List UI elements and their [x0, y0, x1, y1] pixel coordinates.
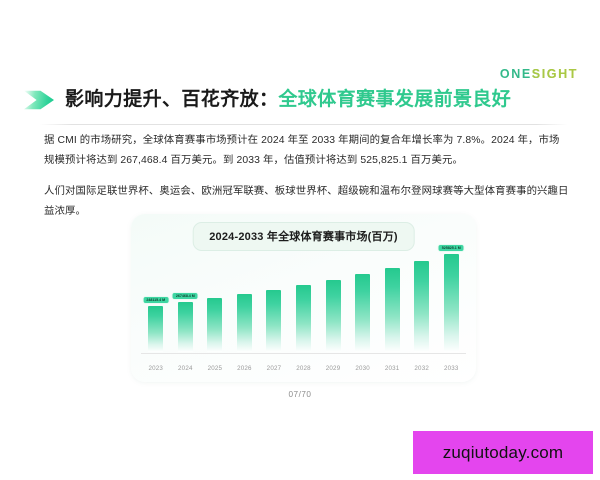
slide-canvas: ONESIGHT 影响力提升、百花齐放：全球体育赛事发展前景良好 据 CMI 的…	[0, 0, 600, 480]
page-number: 07/70	[0, 390, 600, 399]
x-axis-tick: 2031	[377, 365, 407, 372]
bar	[296, 285, 311, 352]
bar	[326, 280, 341, 352]
bar	[178, 302, 193, 352]
x-axis-tick: 2025	[200, 365, 230, 372]
bar-column: 267468.4 M	[171, 248, 201, 352]
title-divider	[40, 124, 568, 125]
bar-column	[230, 248, 260, 352]
logo-text-sight: SIGHT	[532, 67, 578, 81]
bar	[385, 268, 400, 352]
page-title: 影响力提升、百花齐放：全球体育赛事发展前景良好	[65, 90, 511, 111]
bar-value-label: 248115.4 M	[142, 296, 169, 304]
x-axis-tick: 2024	[171, 365, 201, 372]
bar-column	[377, 248, 407, 352]
bar	[207, 298, 222, 352]
headline-lead: 影响力提升、百花齐放：	[65, 89, 278, 110]
bar-column: 248115.4 M	[141, 248, 171, 352]
logo-text-one: ONE	[500, 67, 532, 81]
x-axis-tick: 2029	[318, 365, 348, 372]
bar-column	[200, 248, 230, 352]
bar	[414, 261, 429, 352]
watermark-badge: zuqiutoday.com	[413, 431, 593, 474]
chart-card: 2024-2033 年全球体育赛事市场(百万) 248115.4 M267468…	[131, 214, 476, 382]
x-axis-tick: 2026	[230, 365, 260, 372]
body-paragraph-1: 据 CMI 的市场研究，全球体育赛事市场预计在 2024 年至 2033 年期间…	[44, 131, 570, 172]
bar	[148, 306, 163, 352]
x-axis-tick: 2030	[348, 365, 378, 372]
bar-chart-plot: 248115.4 M267468.4 M525825.1 M	[141, 248, 466, 352]
x-axis-tick: 2027	[259, 365, 289, 372]
x-axis-tick: 2033	[436, 365, 466, 372]
headline-accent: 全球体育赛事发展前景良好	[278, 89, 511, 110]
headline-row: 影响力提升、百花齐放：全球体育赛事发展前景良好	[24, 89, 576, 111]
x-axis-tick: 2032	[407, 365, 437, 372]
bar-value-label: 525825.1 M	[438, 244, 465, 252]
onesight-logo: ONESIGHT	[500, 68, 578, 81]
bar-column	[407, 248, 437, 352]
chart-title: 2024-2033 年全球体育赛事市场(百万)	[192, 222, 415, 251]
bar-column	[289, 248, 319, 352]
chevron-right-icon	[24, 89, 54, 111]
watermark-text: zuqiutoday.com	[443, 443, 564, 463]
bar-column	[318, 248, 348, 352]
x-axis-tick: 2023	[141, 365, 171, 372]
bar-column: 525825.1 M	[436, 248, 466, 352]
bar	[444, 254, 459, 352]
bar-column	[259, 248, 289, 352]
x-axis-tick-labels: 2023202420252026202720282029203020312032…	[141, 365, 466, 372]
bar	[237, 294, 252, 352]
bar-value-label: 267468.4 M	[172, 292, 199, 300]
bar-column	[348, 248, 378, 352]
bar	[266, 290, 281, 352]
x-axis-line	[141, 353, 466, 354]
x-axis-tick: 2028	[289, 365, 319, 372]
bar	[355, 274, 370, 352]
